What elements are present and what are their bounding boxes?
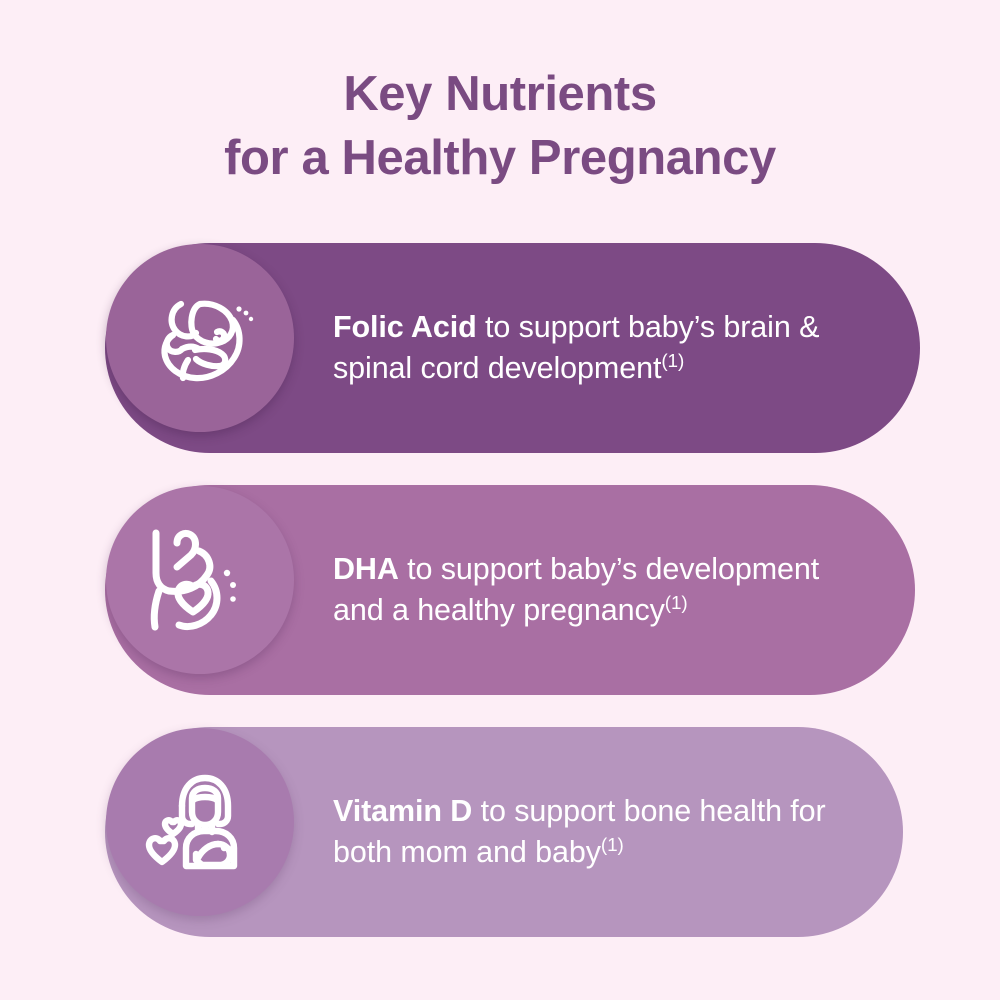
nutrient-text-vitamin-d: Vitamin D to support bone health for bot… <box>333 791 903 873</box>
nutrient-name-folic-acid: Folic Acid <box>333 310 477 344</box>
nutrient-card-list: Folic Acid to support baby’s brain & spi… <box>0 243 1000 937</box>
pregnant-woman-heart-icon <box>141 521 259 639</box>
nutrient-text-dha: DHA to support baby’s development and a … <box>333 549 903 631</box>
nutrient-name-dha: DHA <box>333 552 399 586</box>
icon-badge-folic-acid <box>106 244 294 432</box>
nutrient-text-folic-acid: Folic Acid to support baby’s brain & spi… <box>333 307 903 389</box>
nutrient-card-folic-acid: Folic Acid to support baby’s brain & spi… <box>105 243 920 453</box>
icon-badge-vitamin-d <box>106 728 294 916</box>
infographic-page: Key Nutrients for a Healthy Pregnancy <box>0 0 1000 1000</box>
fetus-in-womb-icon <box>138 276 262 400</box>
footnote-marker-folic-acid: (1) <box>661 351 684 372</box>
title-line-2: for a Healthy Pregnancy <box>0 126 1000 190</box>
mother-holding-baby-icon <box>140 762 260 882</box>
nutrient-card-dha: DHA to support baby’s development and a … <box>105 485 915 695</box>
page-title: Key Nutrients for a Healthy Pregnancy <box>0 62 1000 190</box>
title-line-1: Key Nutrients <box>0 62 1000 126</box>
footnote-marker-dha: (1) <box>665 593 688 614</box>
icon-badge-dha <box>106 486 294 674</box>
nutrient-description-dha: to support baby’s development and a heal… <box>333 552 819 627</box>
nutrient-name-vitamin-d: Vitamin D <box>333 794 472 828</box>
nutrient-card-vitamin-d: Vitamin D to support bone health for bot… <box>105 727 903 937</box>
footnote-marker-vitamin-d: (1) <box>601 835 624 856</box>
